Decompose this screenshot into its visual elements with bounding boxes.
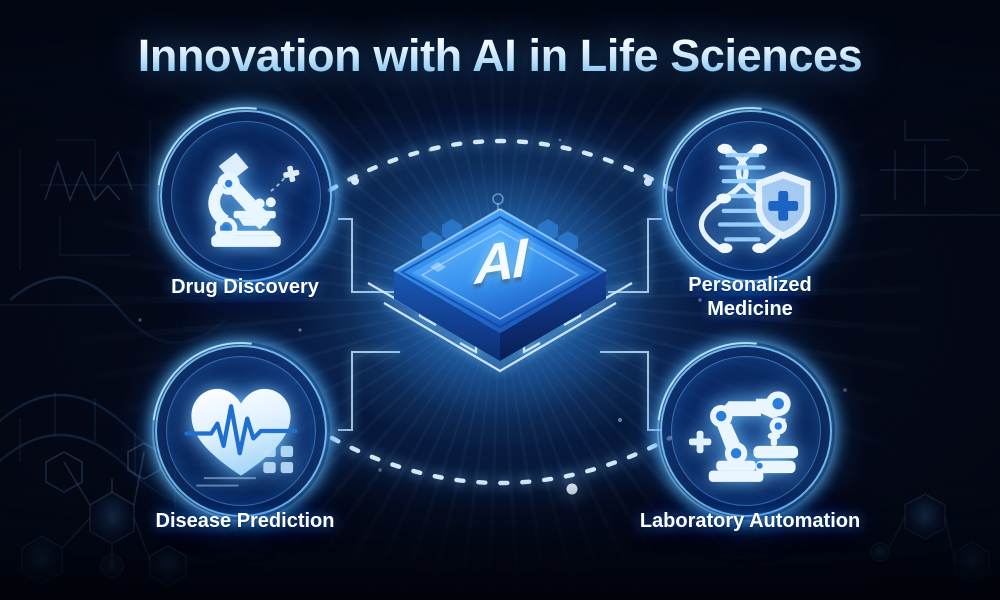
microscope-icon bbox=[184, 134, 308, 258]
icon-container bbox=[684, 369, 808, 493]
icon-container bbox=[179, 369, 303, 493]
icon-container bbox=[689, 134, 813, 258]
label-personalized-medicine: Personalized Medicine bbox=[600, 274, 900, 321]
label-laboratory-automation: Laboratory Automation bbox=[580, 510, 920, 534]
label-disease-prediction: Disease Prediction bbox=[75, 510, 415, 534]
dna-shield-icon bbox=[689, 134, 813, 258]
label-drug-discovery: Drug Discovery bbox=[80, 276, 410, 300]
node-personalized-medicine[interactable] bbox=[665, 110, 837, 282]
robot-arm-icon bbox=[684, 369, 808, 493]
page-title: Innovation with AI in Life Sciences bbox=[0, 30, 1000, 82]
background-bottom-fade bbox=[0, 480, 1000, 600]
node-laboratory-automation[interactable] bbox=[660, 345, 832, 517]
heart-ecg-icon bbox=[179, 369, 303, 493]
node-drug-discovery[interactable] bbox=[160, 110, 332, 282]
icon-container bbox=[184, 134, 308, 258]
infographic-canvas: Innovation with AI in Life Sciences bbox=[0, 0, 1000, 600]
node-disease-prediction[interactable] bbox=[155, 345, 327, 517]
